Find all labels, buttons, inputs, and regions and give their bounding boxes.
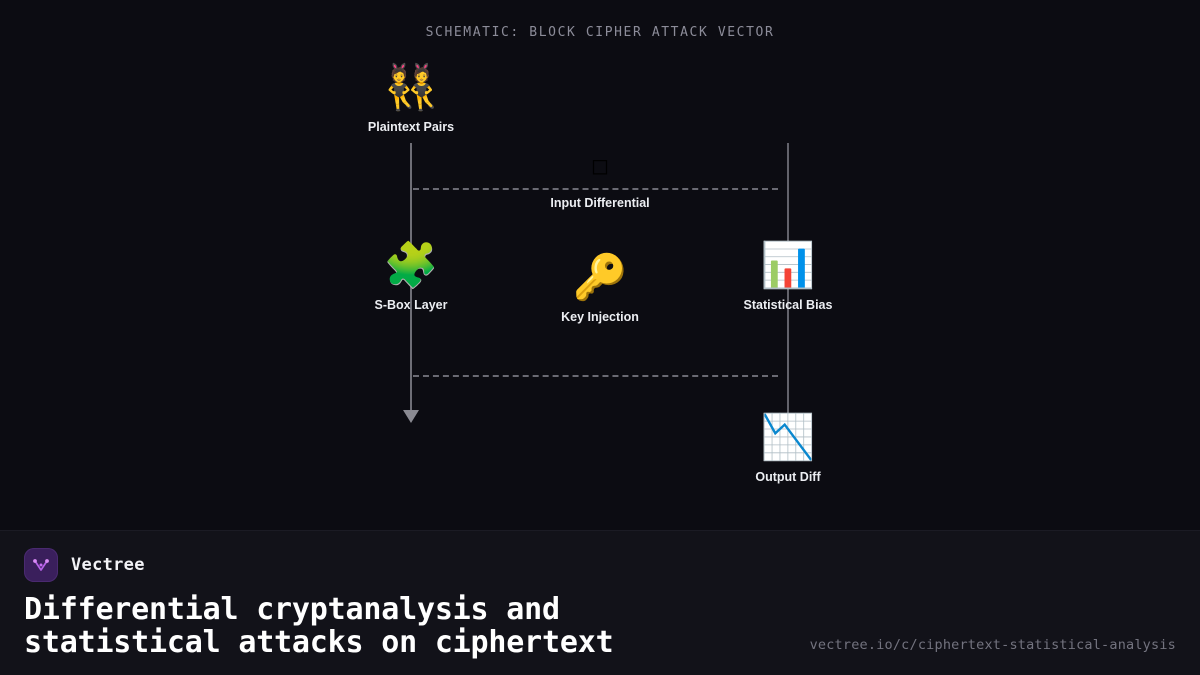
node-label-s-box-layer: S-Box Layer (375, 298, 448, 312)
node-label-statistical-bias: Statistical Bias (744, 298, 833, 312)
brand-name: Vectree (71, 555, 145, 575)
node-input-differential[interactable]: ◻ Input Differential (525, 155, 675, 210)
node-statistical-bias[interactable]: 📊 Statistical Bias (713, 240, 863, 312)
key-icon: 🔑 (573, 252, 628, 304)
schematic-canvas: 👯 Plaintext Pairs ◻ Input Differential 🧩… (0, 0, 1200, 530)
page-title-line-1: Differential cryptanalysis and (24, 593, 784, 626)
node-s-box-layer[interactable]: 🧩 S-Box Layer (336, 240, 486, 312)
connector-dashed-output-differential (413, 375, 778, 377)
page-title-line-2: statistical attacks on ciphertext (24, 626, 784, 659)
screenshot-root: SCHEMATIC: BLOCK CIPHER ATTACK VECTOR 👯 … (0, 0, 1200, 675)
vectree-logo-icon (24, 548, 58, 582)
connector-left-arrowhead (403, 410, 419, 423)
node-label-input-differential: Input Differential (550, 196, 649, 210)
node-label-output-diff: Output Diff (755, 470, 820, 484)
node-output-diff[interactable]: 📉 Output Diff (713, 412, 863, 484)
node-plaintext-pairs[interactable]: 👯 Plaintext Pairs (336, 62, 486, 134)
puzzle-piece-icon: 🧩 (384, 240, 439, 292)
brand[interactable]: Vectree (24, 548, 145, 582)
chart-decreasing-icon: 📉 (761, 412, 816, 464)
white-square-icon: ◻ (591, 155, 609, 179)
node-label-plaintext-pairs: Plaintext Pairs (368, 120, 454, 134)
bar-chart-icon: 📊 (761, 240, 816, 292)
node-key-injection[interactable]: 🔑 Key Injection (525, 252, 675, 324)
page-title: Differential cryptanalysis and statistic… (24, 593, 784, 659)
page-url[interactable]: vectree.io/c/ciphertext-statistical-anal… (810, 637, 1176, 653)
node-label-key-injection: Key Injection (561, 310, 639, 324)
people-with-bunny-ears-icon: 👯 (384, 62, 439, 114)
footer-bar: Vectree Differential cryptanalysis and s… (0, 530, 1200, 675)
